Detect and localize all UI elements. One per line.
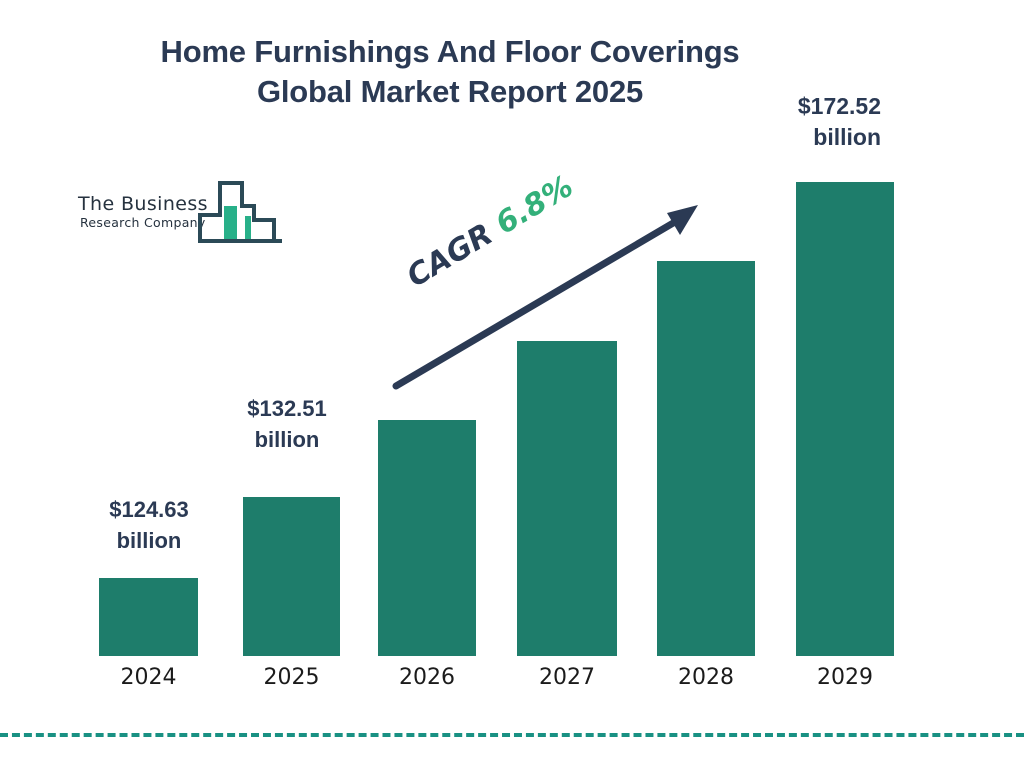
xtick-2029: 2029 xyxy=(796,665,894,690)
logo-wordmark: The Business Research Company xyxy=(78,193,214,231)
bar-chart-logo-mark-icon xyxy=(198,176,284,251)
company-logo: The Business Research Company xyxy=(78,176,283,246)
headline-value-callout: $172.52 billion xyxy=(731,91,881,153)
logo-line-2: Research Company xyxy=(78,215,214,231)
bar-2029[interactable] xyxy=(796,182,894,656)
title-line-1: Home Furnishings And Floor Coverings xyxy=(0,32,900,72)
bar-label-2025-unit: billion xyxy=(192,424,382,455)
bar-label-2025-amount: $132.51 xyxy=(192,393,382,424)
bar-2024[interactable] xyxy=(99,578,198,656)
bar-label-2024: $124.63 billion xyxy=(56,494,242,556)
headline-value-unit: billion xyxy=(731,122,881,153)
xtick-2025: 2025 xyxy=(243,665,340,690)
bar-2025[interactable] xyxy=(243,497,340,656)
logo-line-1: The Business xyxy=(78,193,214,215)
bar-label-2024-amount: $124.63 xyxy=(56,494,242,525)
bar-label-2024-unit: billion xyxy=(56,525,242,556)
xtick-2028: 2028 xyxy=(657,665,755,690)
xtick-2024: 2024 xyxy=(99,665,198,690)
chart-canvas: Home Furnishings And Floor Coverings Glo… xyxy=(0,0,1024,768)
xtick-2027: 2027 xyxy=(517,665,617,690)
headline-value-amount: $172.52 xyxy=(731,91,881,122)
xtick-2026: 2026 xyxy=(378,665,476,690)
growth-arrow-icon xyxy=(380,190,710,400)
bar-2026[interactable] xyxy=(378,420,476,656)
bar-label-2025: $132.51 billion xyxy=(192,393,382,455)
footer-divider xyxy=(0,733,1024,737)
